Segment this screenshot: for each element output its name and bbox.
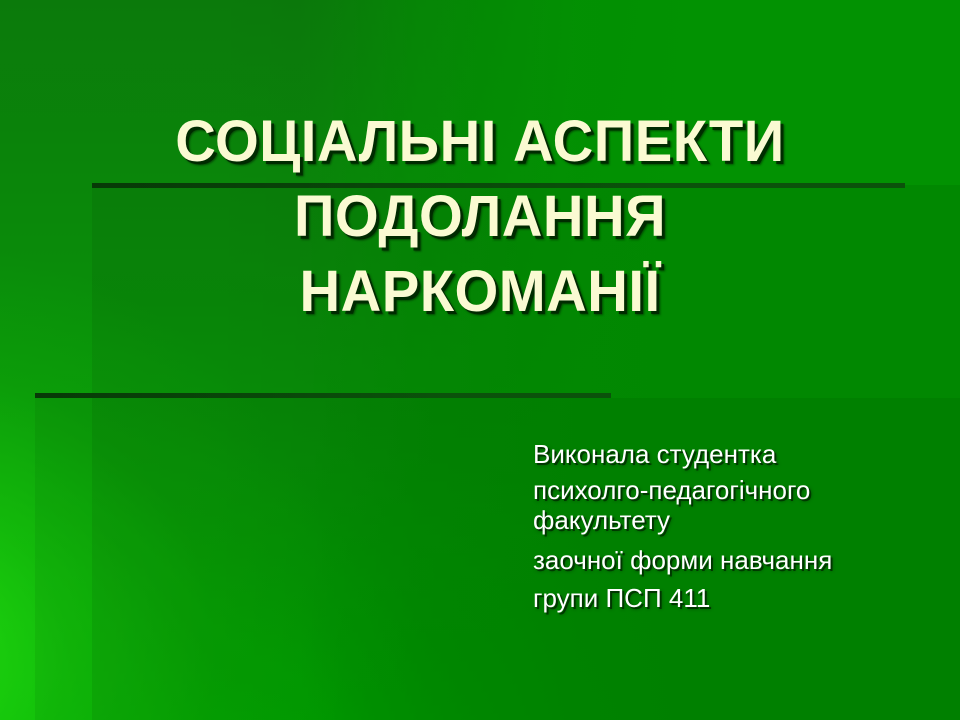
title-line-1: СОЦІАЛЬНІ АСПЕКТИ	[73, 104, 888, 179]
subtitle-line-3: заочної форми навчання	[533, 543, 933, 577]
subtitle-line-2: психолго-педагогічного факультету	[533, 475, 933, 535]
subtitle-line-1: Виконала студентка	[533, 437, 933, 471]
title-line-2: ПОДОЛАННЯ	[73, 179, 888, 254]
slide-title: СОЦІАЛЬНІ АСПЕКТИ ПОДОЛАННЯ НАРКОМАНІЇ	[60, 104, 900, 329]
presentation-slide: СОЦІАЛЬНІ АСПЕКТИ ПОДОЛАННЯ НАРКОМАНІЇ В…	[0, 0, 960, 720]
title-line-3: НАРКОМАНІЇ	[73, 254, 888, 329]
slide-subtitle: Виконала студентка психолго-педагогічног…	[533, 437, 933, 619]
subtitle-line-4: групи ПСП 411	[533, 581, 933, 615]
